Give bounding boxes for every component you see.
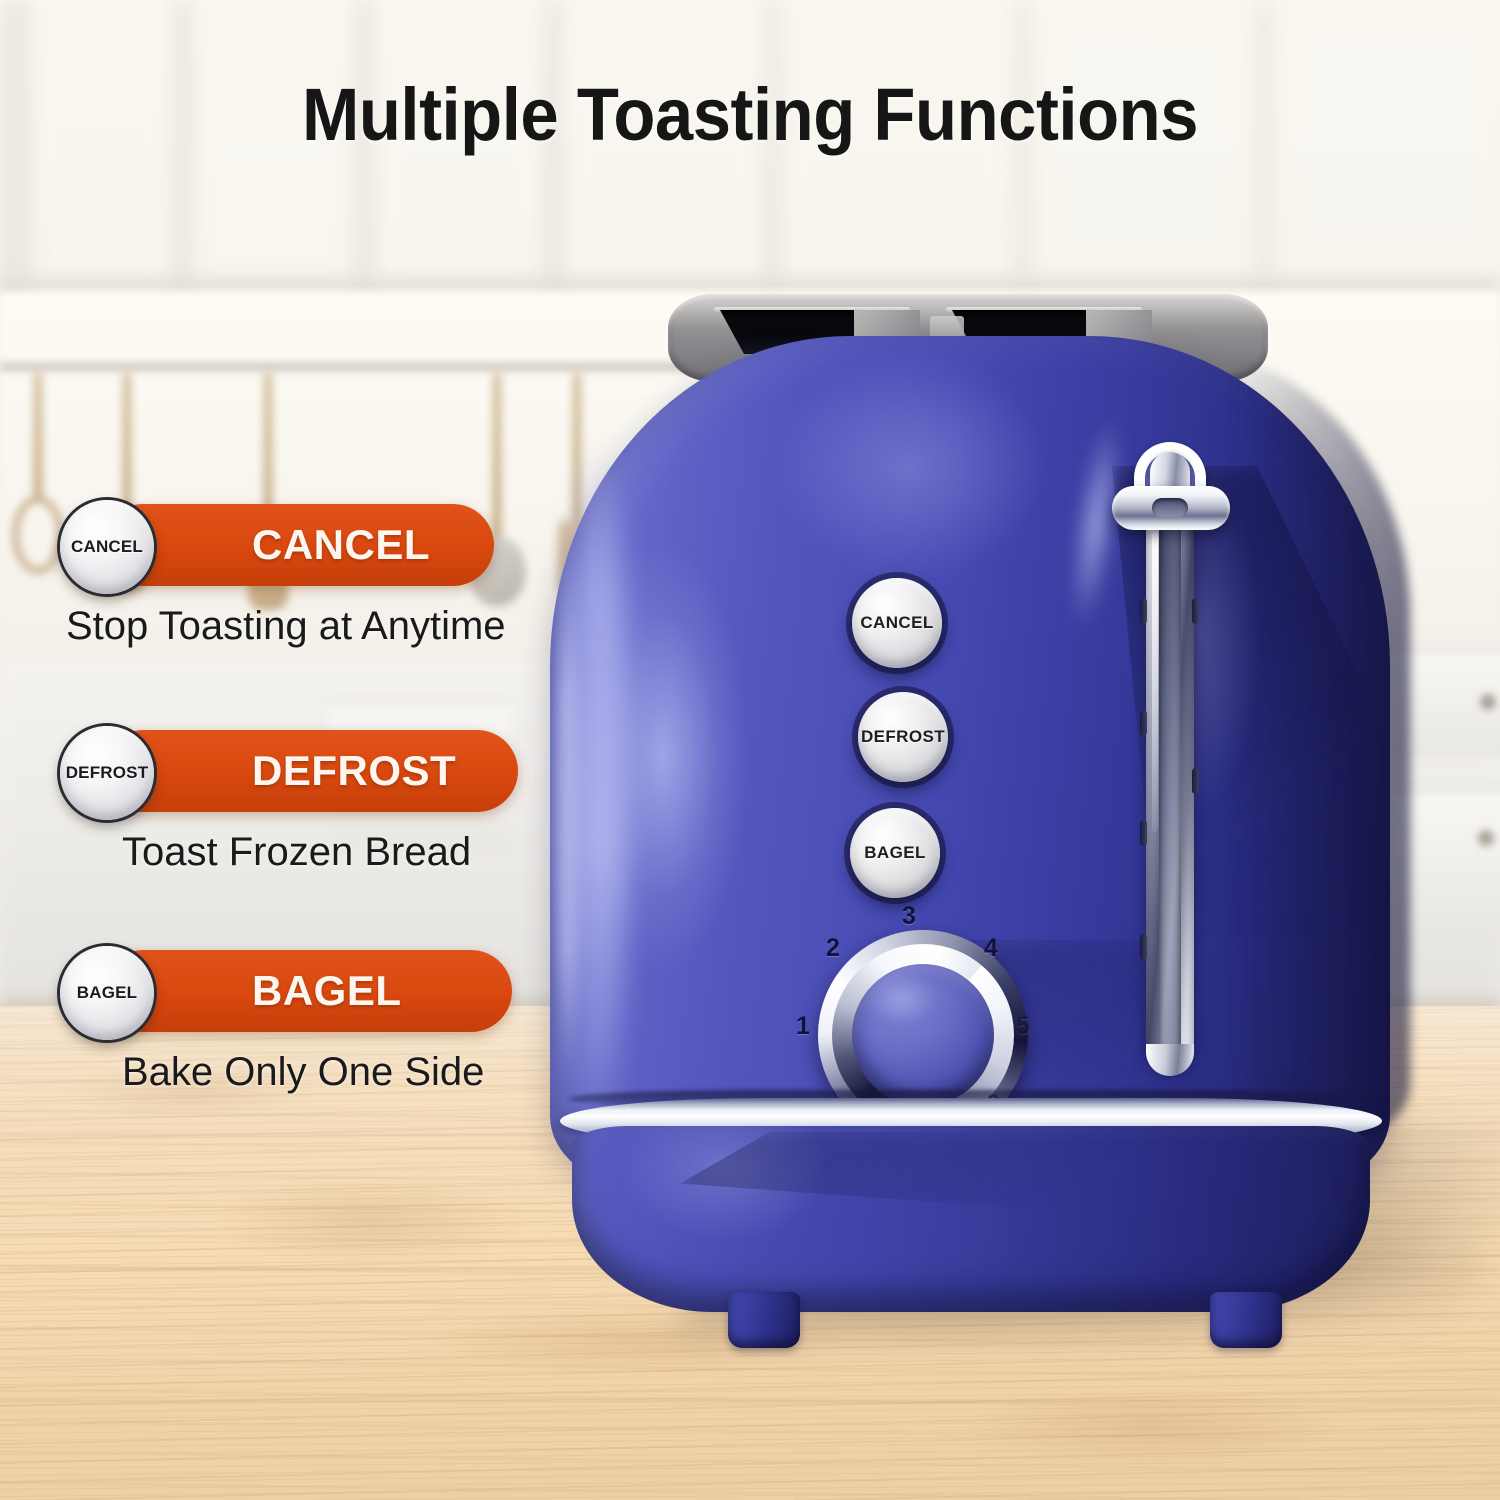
drawer-knob [1478,830,1494,846]
toaster-foot [728,1292,800,1348]
lever-track-bottom-cap [1146,1044,1194,1076]
lever-track-notch [1140,598,1147,624]
dial-number-3: 3 [902,902,916,931]
dial-number-5: 5 [1016,1012,1030,1041]
feature-pill-label: CANCEL [252,521,430,569]
cancel-button-badge-icon[interactable]: CANCEL [60,500,154,594]
toaster-bagel-button[interactable]: BAGEL [850,808,940,898]
page-title: Multiple Toasting Functions [53,72,1448,157]
lever-track-notch [1140,820,1147,846]
toaster-product: CANCEL DEFROST BAGEL 1 2 3 4 5 6 REHEAT [520,280,1410,1290]
body-rim-highlight [556,530,578,1090]
toaster-defrost-button[interactable]: DEFROST [858,692,948,782]
product-feature-image: CANCEL DEFROST BAGEL 1 2 3 4 5 6 REHEAT [0,0,1500,1500]
dial-number-1: 1 [796,1012,810,1041]
bagel-button-badge-icon[interactable]: BAGEL [60,946,154,1040]
feature-description: Stop Toasting at Anytime [66,604,506,649]
cancel-badge-label: CANCEL [71,537,143,557]
toaster-defrost-button-label: DEFROST [861,727,945,747]
dial-number-2: 2 [826,934,840,963]
carriage-lever[interactable] [1106,448,1234,1088]
defrost-button-badge-icon[interactable]: DEFROST [60,726,154,820]
dial-knob-highlight [864,972,938,1024]
drawer-knob [1480,694,1496,710]
feature-description: Bake Only One Side [122,1050,484,1095]
lever-track-notch [1140,934,1147,960]
wood-grain [210,1176,530,1266]
lever-cap-slot [1152,498,1188,518]
feature-pill-cancel[interactable]: CANCEL [102,504,494,586]
defrost-badge-label: DEFROST [66,763,149,783]
feature-description: Toast Frozen Bread [122,830,471,875]
bagel-badge-label: BAGEL [77,983,138,1003]
toaster-cancel-button-label: CANCEL [860,613,933,633]
feature-pill-bagel[interactable]: BAGEL [102,950,512,1032]
toaster-cancel-button[interactable]: CANCEL [852,578,942,668]
feature-pill-label: BAGEL [252,967,402,1015]
body-highlight-left [572,430,628,1150]
lever-track [1146,492,1194,1070]
dial-number-4: 4 [984,934,998,963]
lever-track-notch [1192,768,1199,794]
wood-grain [960,1386,1340,1466]
lever-track-notch [1140,710,1147,736]
feature-pill-defrost[interactable]: DEFROST [102,730,518,812]
feature-pill-label: DEFROST [252,747,456,795]
hanging-utensil-whisk [8,372,68,612]
toaster-bagel-button-label: BAGEL [864,843,926,863]
toaster-foot [1210,1292,1282,1348]
lever-track-notch [1192,598,1199,624]
